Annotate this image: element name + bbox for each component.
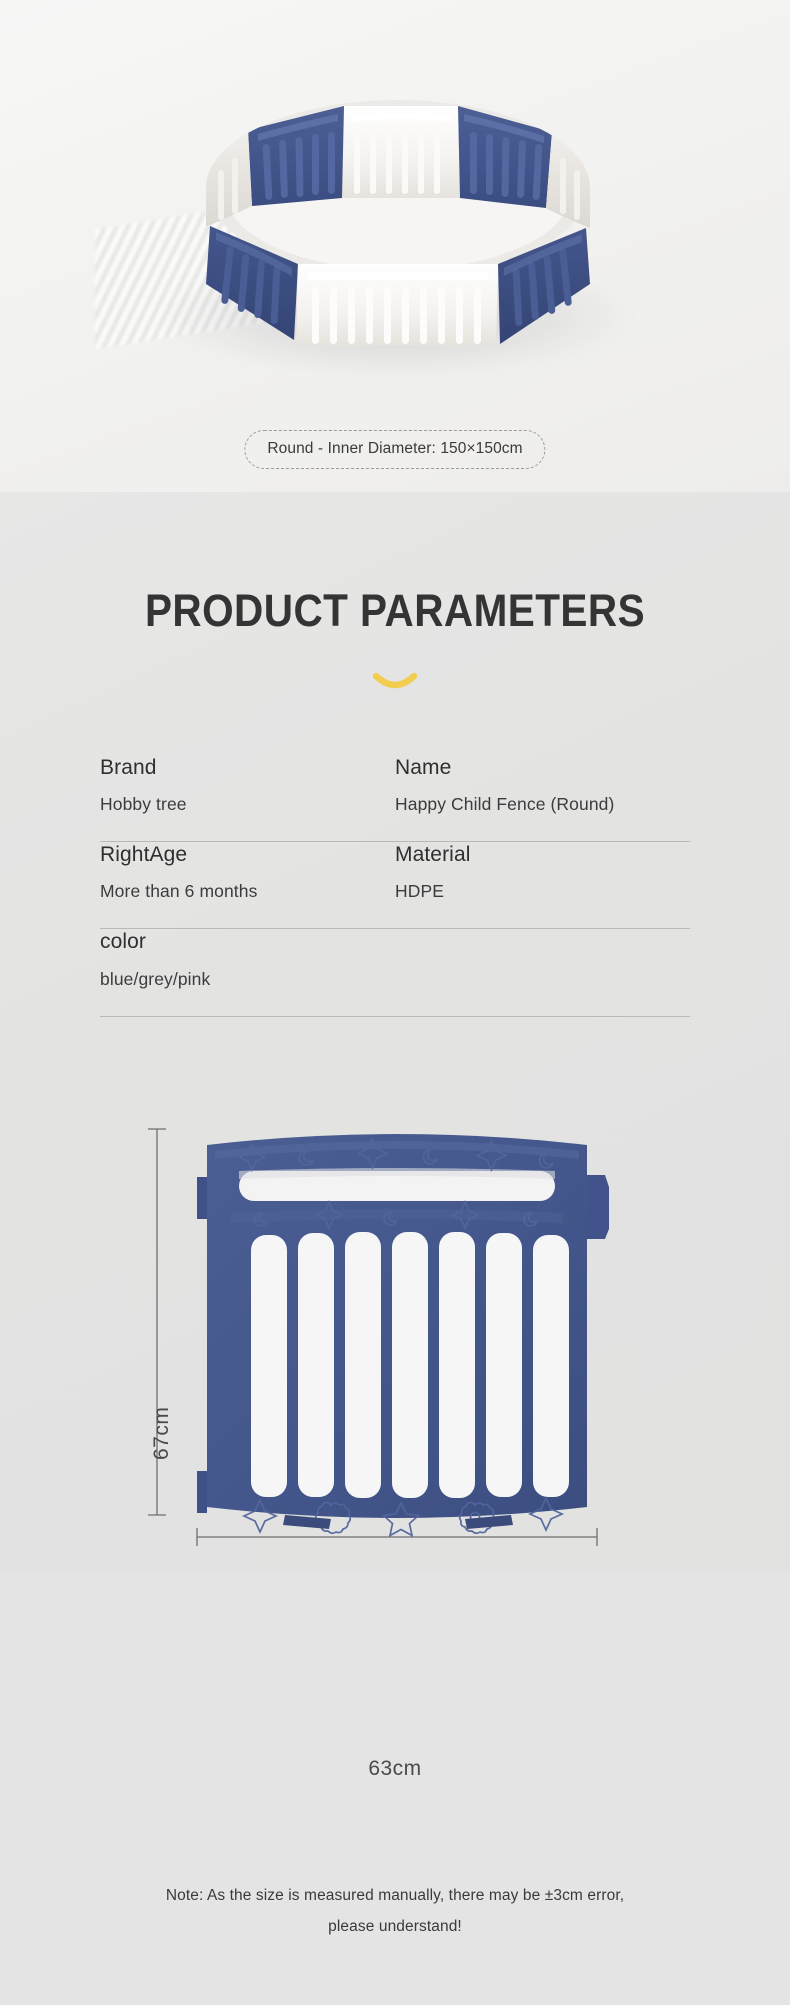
playpen-svg [148,78,648,348]
spec-key: Name [395,755,690,780]
smile-curve-icon [373,673,417,691]
spec-key: Brand [100,755,395,780]
measurement-note: Note: As the size is measured manually, … [0,1880,790,1942]
spec-cell-brand: Brand Hobby tree [100,755,395,815]
spec-value: Hobby tree [100,794,395,815]
fence-panel-svg [135,1067,655,1557]
spec-cell-color: color blue/grey/pink [100,929,690,989]
spec-cell-material: Material HDPE [395,842,690,902]
note-line-1: Note: As the size is measured manually, … [0,1880,790,1911]
spec-value: blue/grey/pink [100,969,690,990]
spec-value: Happy Child Fence (Round) [395,794,690,815]
product-detail-page: Round - Inner Diameter: 150×150cm PRODUC… [0,0,790,2005]
table-row: color blue/grey/pink [100,929,690,1015]
hero-section: Round - Inner Diameter: 150×150cm [0,0,790,492]
spec-cell-name: Name Happy Child Fence (Round) [395,755,690,815]
note-line-2: please understand! [0,1911,790,1942]
product-photo [0,0,790,492]
dimension-diagram [0,1053,790,1573]
round-playpen-illustration [148,78,648,348]
spec-table: Brand Hobby tree Name Happy Child Fence … [100,755,690,1017]
spec-value: HDPE [395,881,690,902]
spec-cell-rightage: RightAge More than 6 months [100,842,395,902]
spec-key: RightAge [100,842,395,867]
table-row: Brand Hobby tree Name Happy Child Fence … [100,755,690,841]
spec-value: More than 6 months [100,881,395,902]
size-caption-badge: Round - Inner Diameter: 150×150cm [244,430,545,469]
parameters-section: PRODUCT PARAMETERS Brand Hobby tree Name… [0,492,790,1573]
fence-panel-body [197,1134,609,1536]
width-dimension-line [197,1528,597,1546]
spec-key: Material [395,842,690,867]
width-dimension-label: 63cm [0,1757,790,1781]
title-accent [0,673,790,691]
page-title: PRODUCT PARAMETERS [40,588,751,633]
height-dimension-label: 67cm [150,1407,174,1460]
table-row: RightAge More than 6 months Material HDP… [100,842,690,928]
row-divider [100,1016,690,1017]
spec-key: color [100,929,690,954]
